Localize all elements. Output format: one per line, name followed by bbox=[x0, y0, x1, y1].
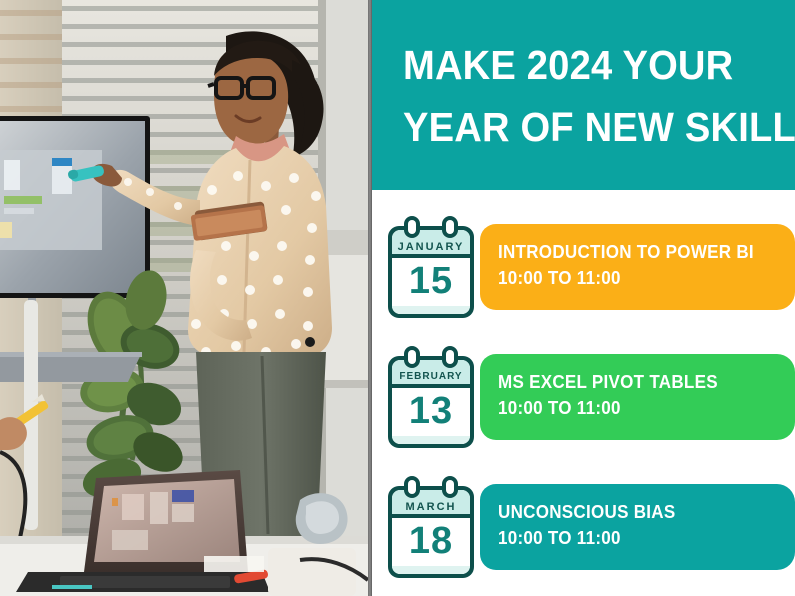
event-pill[interactable]: MS EXCEL PIVOT TABLES 10:00 TO 11:00 bbox=[480, 354, 795, 440]
calendar-day: 18 bbox=[382, 520, 480, 563]
calendar-icon: MARCH 18 bbox=[382, 472, 480, 582]
event-title: UNCONSCIOUS BIAS bbox=[498, 500, 762, 523]
calendar-icon: JANUARY 15 bbox=[382, 212, 480, 322]
right-panel: MAKE 2024 YOUR YEAR OF NEW SKILLS! INTRO… bbox=[372, 0, 795, 596]
event-time: 10:00 TO 11:00 bbox=[498, 266, 762, 290]
event-title: MS EXCEL PIVOT TABLES bbox=[498, 370, 762, 393]
event-title: INTRODUCTION TO POWER BI bbox=[498, 240, 762, 263]
event-pill[interactable]: UNCONSCIOUS BIAS 10:00 TO 11:00 bbox=[480, 484, 795, 570]
event-february[interactable]: MS EXCEL PIVOT TABLES 10:00 TO 11:00 bbox=[372, 338, 795, 455]
calendar-day: 13 bbox=[382, 390, 480, 433]
event-pill[interactable]: INTRODUCTION TO POWER BI 10:00 TO 11:00 bbox=[480, 224, 795, 310]
headline-line-2: YEAR OF NEW SKILLS! bbox=[403, 96, 747, 158]
event-time: 10:00 TO 11:00 bbox=[498, 396, 762, 420]
event-list: INTRODUCTION TO POWER BI 10:00 TO 11:00 bbox=[372, 190, 795, 596]
calendar-month: FEBRUARY bbox=[382, 371, 480, 382]
calendar-month: JANUARY bbox=[382, 241, 480, 253]
office-presentation-photo bbox=[0, 0, 368, 596]
calendar-month: MARCH bbox=[382, 501, 480, 513]
headline: MAKE 2024 YOUR YEAR OF NEW SKILLS! bbox=[403, 34, 747, 158]
event-january[interactable]: INTRODUCTION TO POWER BI 10:00 TO 11:00 bbox=[372, 208, 795, 325]
event-time: 10:00 TO 11:00 bbox=[498, 526, 762, 550]
calendar-day: 15 bbox=[382, 260, 480, 303]
event-march[interactable]: UNCONSCIOUS BIAS 10:00 TO 11:00 bbox=[372, 468, 795, 585]
headline-line-1: MAKE 2024 YOUR bbox=[403, 42, 733, 88]
promo-poster: MAKE 2024 YOUR YEAR OF NEW SKILLS! INTRO… bbox=[0, 0, 795, 596]
calendar-icon: FEBRUARY 13 bbox=[382, 342, 480, 452]
poster-header: MAKE 2024 YOUR YEAR OF NEW SKILLS! bbox=[372, 0, 795, 190]
